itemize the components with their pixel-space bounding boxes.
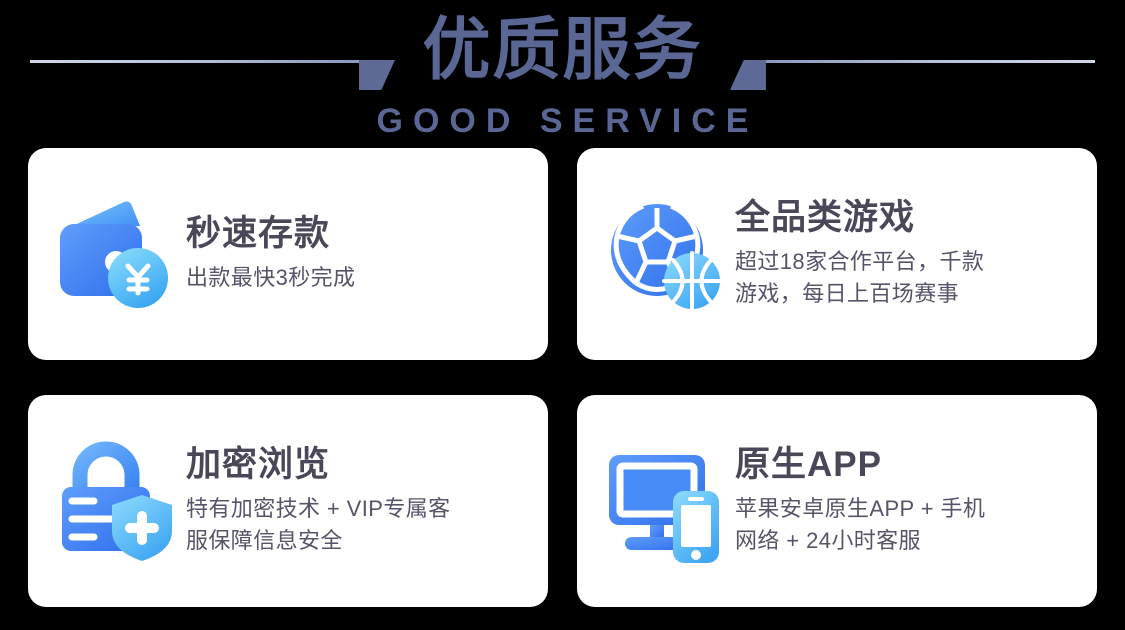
subtitle-line: 服保障信息安全: [186, 525, 526, 557]
service-card-title: 全品类游戏: [735, 198, 1075, 238]
banner-header: 优质服务 GOOD SERVICE: [0, 0, 1125, 145]
service-card-subtitle: 特有加密技术 + VIP专属客 服保障信息安全: [186, 493, 526, 557]
service-card-title: 原生APP: [735, 445, 1075, 485]
wallet-yen-icon: [54, 192, 178, 316]
soccer-basketball-icon-svg: [603, 192, 727, 316]
service-card[interactable]: 秒速存款 出款最快3秒完成: [28, 148, 548, 360]
service-card-text: 全品类游戏 超过18家合作平台，千款 游戏，每日上百场赛事: [727, 198, 1075, 310]
subtitle-line: 苹果安卓原生APP + 手机: [735, 493, 1075, 525]
deco-line-right-bar: [765, 60, 1095, 63]
decorative-line-left: [30, 51, 395, 81]
monitor-phone-icon: [603, 439, 727, 563]
decorative-line-right: [730, 51, 1095, 81]
header-title-row: 优质服务: [0, 4, 1125, 96]
deco-slash-left-icon: [359, 60, 395, 90]
service-card[interactable]: 原生APP 苹果安卓原生APP + 手机 网络 + 24小时客服: [577, 395, 1097, 607]
monitor-phone-icon-svg: [603, 439, 727, 563]
good-service-banner: 优质服务 GOOD SERVICE: [0, 0, 1125, 630]
service-card[interactable]: 全品类游戏 超过18家合作平台，千款 游戏，每日上百场赛事: [577, 148, 1097, 360]
soccer-basketball-icon: [603, 192, 727, 316]
subtitle-line: 网络 + 24小时客服: [735, 525, 1075, 557]
subtitle-line: 超过18家合作平台，千款: [735, 246, 1075, 278]
page-subtitle: GOOD SERVICE: [0, 102, 1125, 141]
subtitle-line: 特有加密技术 + VIP专属客: [186, 493, 526, 525]
service-card[interactable]: 加密浏览 特有加密技术 + VIP专属客 服保障信息安全: [28, 395, 548, 607]
lock-shield-icon-svg: [54, 439, 178, 563]
wallet-yen-icon-svg: [54, 192, 178, 316]
service-card-text: 秒速存款 出款最快3秒完成: [178, 214, 526, 294]
deco-line-left-bar: [30, 60, 360, 63]
service-card-subtitle: 超过18家合作平台，千款 游戏，每日上百场赛事: [735, 246, 1075, 310]
deco-slash-right-icon: [730, 60, 766, 90]
subtitle-line: 游戏，每日上百场赛事: [735, 278, 1075, 310]
service-card-text: 原生APP 苹果安卓原生APP + 手机 网络 + 24小时客服: [727, 445, 1075, 557]
page-title: 优质服务: [396, 16, 728, 84]
service-card-grid: 秒速存款 出款最快3秒完成: [28, 148, 1097, 613]
service-card-text: 加密浏览 特有加密技术 + VIP专属客 服保障信息安全: [178, 445, 526, 557]
service-card-subtitle: 苹果安卓原生APP + 手机 网络 + 24小时客服: [735, 493, 1075, 557]
service-card-title: 秒速存款: [186, 214, 526, 254]
service-card-title: 加密浏览: [186, 445, 526, 485]
service-card-subtitle: 出款最快3秒完成: [186, 262, 526, 294]
subtitle-line: 出款最快3秒完成: [186, 262, 526, 294]
lock-shield-icon: [54, 439, 178, 563]
